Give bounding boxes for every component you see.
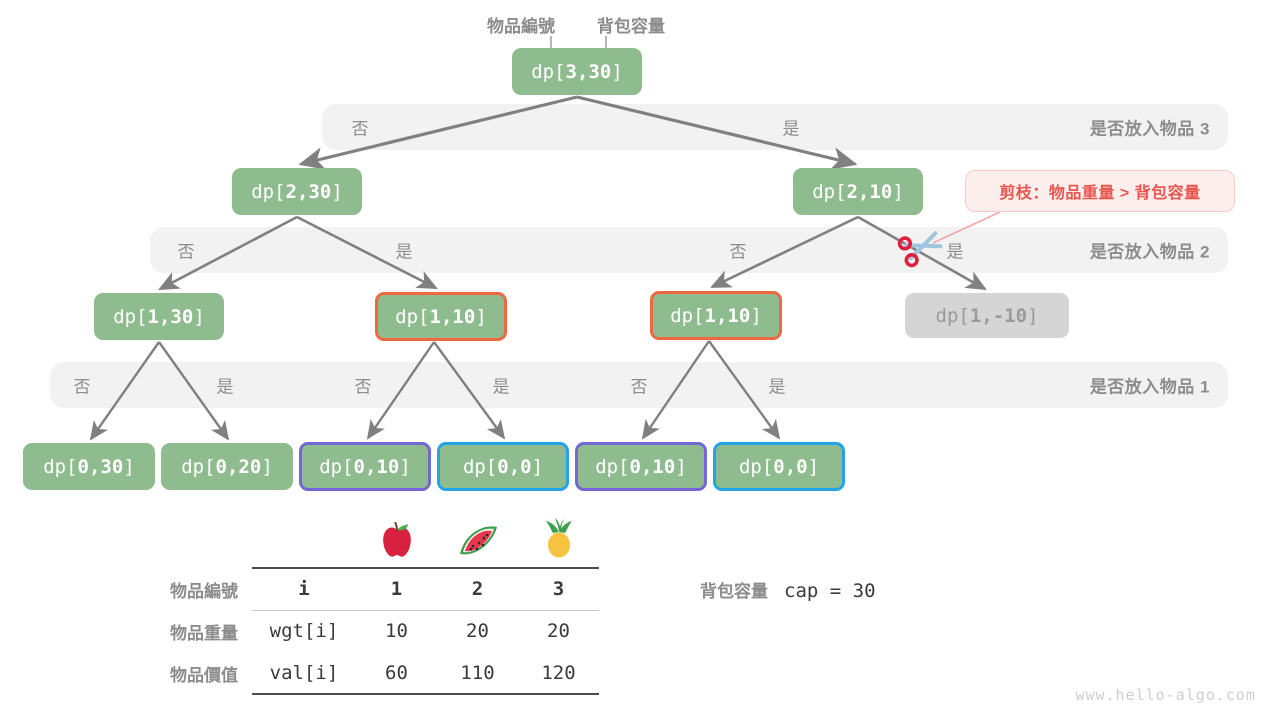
row-label-1: 物品重量 bbox=[170, 610, 252, 652]
row-name-0: i bbox=[252, 568, 356, 610]
caption-1: 背包容量 bbox=[597, 12, 665, 37]
capacity-label: 背包容量 bbox=[700, 582, 768, 601]
items-table: 物品編號i123物品重量wgt[i]102020物品價值val[i]601101… bbox=[170, 518, 599, 695]
table-row: 物品重量wgt[i]102020 bbox=[170, 610, 599, 652]
cell-r2-c1: 110 bbox=[437, 652, 518, 694]
cell-r0-c2: 3 bbox=[518, 568, 599, 610]
cell-r2-c0: 60 bbox=[356, 652, 437, 694]
cell-r0-c0: 1 bbox=[356, 568, 437, 610]
capacity-note: 背包容量cap = 30 bbox=[700, 577, 876, 602]
cell-r0-c1: 2 bbox=[437, 568, 518, 610]
pineapple-icon bbox=[518, 518, 599, 568]
diagram-canvas: 是否放入物品 3否是是否放入物品 2否是否是是否放入物品 1否是否是否是 bbox=[0, 0, 1280, 720]
row-label-0: 物品編號 bbox=[170, 568, 252, 610]
table-row: 物品編號i123 bbox=[170, 568, 599, 610]
apple-icon bbox=[356, 518, 437, 568]
row-name-2: val[i] bbox=[252, 652, 356, 694]
icon-row-spacer bbox=[170, 518, 252, 568]
icon-row-namespacer bbox=[252, 518, 356, 568]
watermelon-icon bbox=[437, 518, 518, 568]
caption-0: 物品編號 bbox=[487, 12, 555, 37]
cell-r2-c2: 120 bbox=[518, 652, 599, 694]
table-icon-row bbox=[170, 518, 599, 568]
items-table-body: 物品編號i123物品重量wgt[i]102020物品價值val[i]601101… bbox=[170, 518, 599, 695]
prune-annotation: 剪枝：物品重量 > 背包容量 bbox=[965, 170, 1235, 212]
watermark: www.hello-algo.com bbox=[1075, 686, 1256, 704]
row-name-1: wgt[i] bbox=[252, 610, 356, 652]
cell-r1-c0: 10 bbox=[356, 610, 437, 652]
row-label-2: 物品價值 bbox=[170, 652, 252, 694]
table-row: 物品價值val[i]60110120 bbox=[170, 652, 599, 694]
cell-r1-c2: 20 bbox=[518, 610, 599, 652]
capacity-value: cap = 30 bbox=[784, 580, 876, 602]
cell-r1-c1: 20 bbox=[437, 610, 518, 652]
